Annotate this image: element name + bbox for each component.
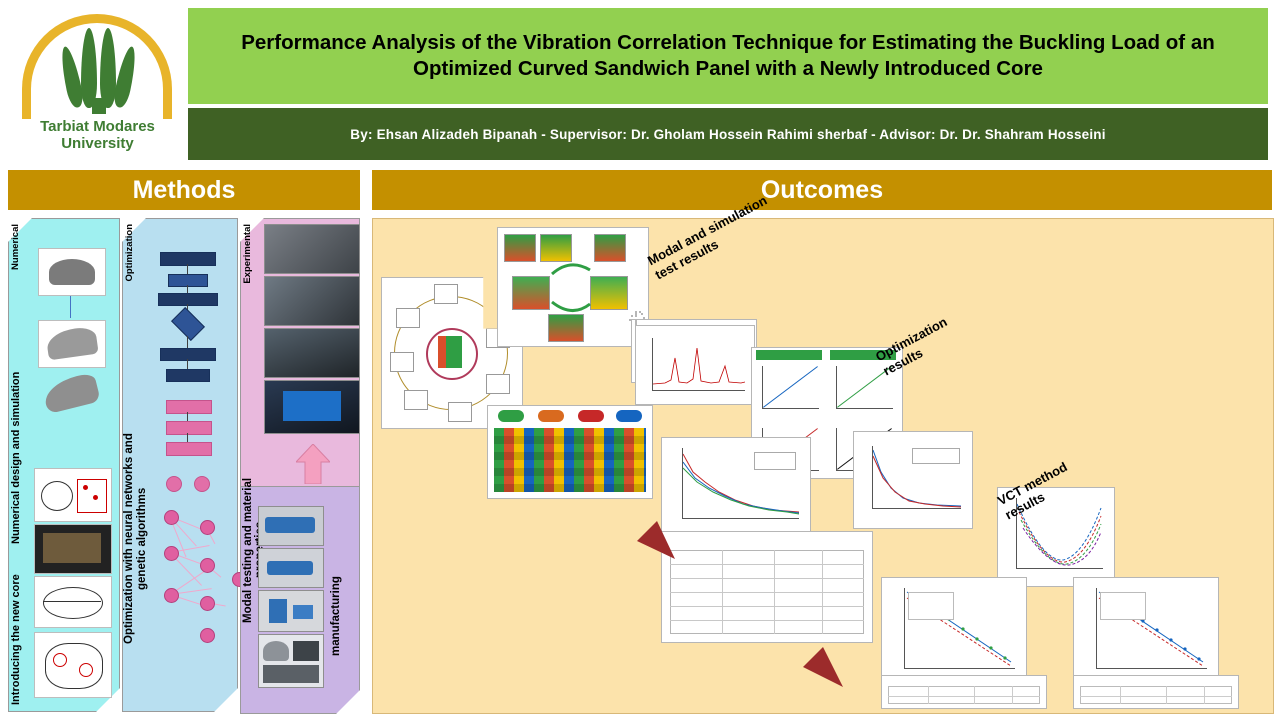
authors-band: By: Ehsan Alizadeh Bipanah - Supervisor:… [188,108,1268,160]
lab-photo-1 [264,224,360,274]
ga-circle-2 [194,476,210,492]
card-best-fitness [853,431,973,529]
outcomes-panel: Modal and simulation test results Optimi… [372,218,1274,714]
sim-image-3 [38,372,104,416]
label-manufacturing: manufacturing [330,536,342,696]
card-frf-plot [635,325,755,405]
leaves-icon [62,18,134,108]
manufacturing-photo-1 [258,506,324,546]
card-core-array [487,405,653,499]
manufacturing-photo-3 [258,590,324,632]
sim-image-2 [38,320,106,368]
column-tag-optimization: Optimization [124,224,135,282]
upward-arrow-icon [296,444,330,489]
ga-circle-1 [166,476,182,492]
label-numerical-design: Numerical design and simulation [10,368,22,548]
flow-node-1 [160,252,216,266]
methods-column-numerical: Numerical Numerical design and simulatio… [8,218,120,712]
card-vct-table-2 [1073,675,1239,709]
manufacturing-photo-2 [258,548,324,588]
methods-column-experimental: Experimental Modal testing and material … [240,218,360,712]
methods-panel: Numerical Numerical design and simulatio… [8,218,360,712]
annotation-optimization-results: Optimization results [873,295,994,380]
core-schematic-3 [34,632,112,698]
card-vct-scatter-2 [1073,577,1219,689]
ga-node-3 [166,442,212,456]
core-photo [34,524,112,574]
card-mode-shapes [497,227,649,347]
card-vct-table-1 [881,675,1047,709]
column-tag-numerical: Numerical [10,224,21,270]
poster-root: Tarbiat Modares University Performance A… [0,0,1280,720]
card-vct-scatter-1 [881,577,1027,689]
column-tag-experimental: Experimental [242,224,253,284]
page-title: Performance Analysis of the Vibration Co… [188,30,1268,82]
flow-arrow-2-icon [773,617,853,702]
flow-node-3 [158,293,218,306]
flow-node-4 [160,348,216,361]
label-optimization-method: Optimization with neural networks and ge… [123,414,163,664]
core-schematic-2 [34,576,112,628]
university-logo: Tarbiat Modares University [10,6,185,161]
lab-photo-3 [264,328,360,378]
flow-arrow-1-icon [613,497,683,572]
poster-title-band: Performance Analysis of the Vibration Co… [188,8,1268,104]
card-ga-convergence [661,437,811,537]
core-schematic-1 [34,468,112,522]
ga-node-2 [166,421,212,435]
lab-photo-4 [264,380,360,434]
lab-photo-2 [264,276,360,326]
manufacturing-photo-4 [258,634,324,688]
section-header-methods: Methods [8,170,360,210]
flow-node-5 [166,369,210,382]
section-header-outcomes: Outcomes [372,170,1272,210]
label-introducing-core: Introducing the new core [10,570,22,710]
authors-line: By: Ehsan Alizadeh Bipanah - Supervisor:… [350,127,1105,142]
flow-node-2 [168,274,208,287]
university-name: Tarbiat Modares University [10,118,185,152]
methods-column-optimization: Optimization Optimization with neural ne… [122,218,238,712]
ga-node-1 [166,400,212,414]
neural-network-diagram [160,502,222,652]
sim-image-1 [38,248,106,296]
